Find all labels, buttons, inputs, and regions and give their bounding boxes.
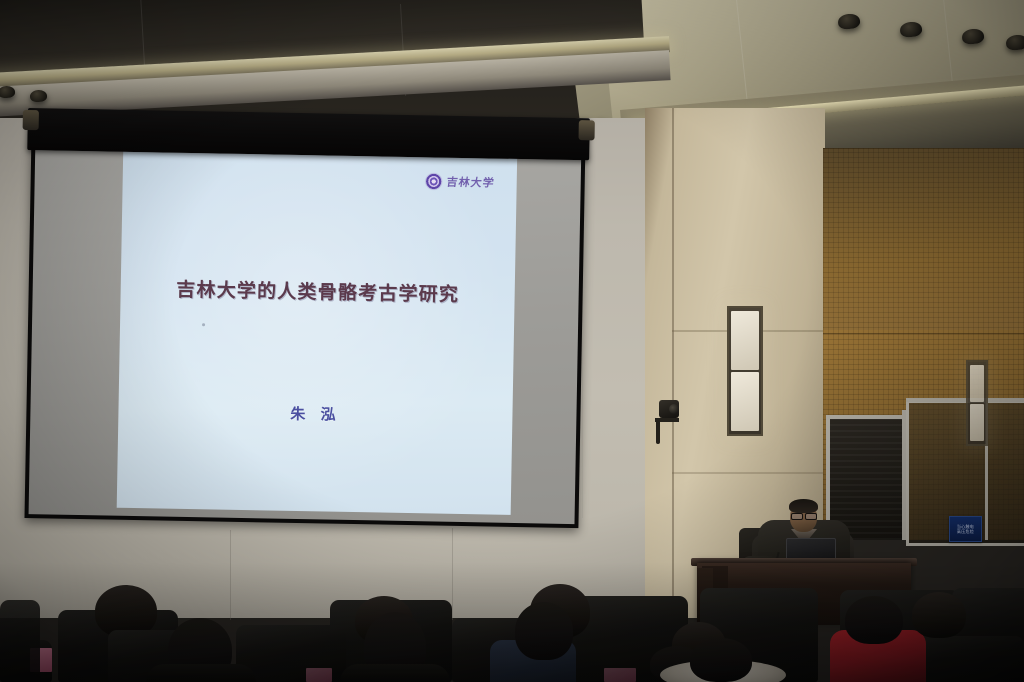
slide-logo: 吉林大学 bbox=[426, 173, 495, 190]
panel-joint bbox=[823, 148, 1024, 149]
plaque-line-1: 当心触电 bbox=[957, 525, 974, 529]
audience-head bbox=[912, 592, 966, 638]
door-header bbox=[826, 415, 906, 419]
screen-speck bbox=[202, 323, 205, 326]
audience-shoulders bbox=[340, 664, 450, 682]
slide-logo-text: 吉林大学 bbox=[446, 174, 496, 191]
spotlight-icon bbox=[30, 90, 48, 103]
sconce-pane-top bbox=[731, 311, 759, 370]
wall-seam bbox=[452, 528, 453, 620]
pilaster-groove bbox=[672, 108, 674, 618]
presenter-hair bbox=[789, 499, 818, 513]
pink-item bbox=[604, 668, 636, 682]
pink-item bbox=[306, 668, 332, 682]
projector-hotspot bbox=[117, 146, 518, 515]
pilaster-groove bbox=[672, 472, 825, 474]
audience-shoulders bbox=[146, 664, 256, 682]
partition-header bbox=[906, 398, 1024, 402]
camera-lens-icon bbox=[669, 404, 679, 414]
sconce-pane-bottom bbox=[731, 372, 759, 431]
sconce-pane-top bbox=[970, 365, 984, 402]
audience-seat bbox=[0, 600, 40, 682]
wall-seam bbox=[230, 530, 231, 620]
projected-slide: 吉林大学 吉林大学的人类骨骼考古学研究 朱 泓 bbox=[117, 146, 518, 515]
audience-head bbox=[690, 638, 752, 682]
audience-head bbox=[845, 596, 903, 644]
audience-head bbox=[515, 602, 573, 660]
camera-mount bbox=[656, 420, 660, 444]
screen-housing-cap-left bbox=[23, 110, 39, 130]
sconce-pane-bottom bbox=[970, 404, 984, 441]
lecture-hall-scene: 当心触电 高压危险 吉林大学 吉林大学的人类骨骼考古学研究 朱 泓 bbox=[0, 0, 1024, 682]
projection-screen: 吉林大学 吉林大学的人类骨骼考古学研究 朱 泓 bbox=[20, 108, 590, 533]
panel-joint bbox=[823, 333, 1024, 334]
wall-sconce-far bbox=[966, 360, 988, 446]
plaque-line-2: 高压危险 bbox=[957, 530, 974, 534]
acoustic-panel-upper bbox=[823, 148, 1024, 333]
university-seal-icon bbox=[426, 173, 442, 189]
presenter-glasses-icon bbox=[791, 513, 816, 518]
wall-sconce bbox=[727, 306, 763, 436]
warning-plaque: 当心触电 高压危险 bbox=[949, 516, 982, 542]
screen-housing-cap-right bbox=[579, 120, 595, 140]
